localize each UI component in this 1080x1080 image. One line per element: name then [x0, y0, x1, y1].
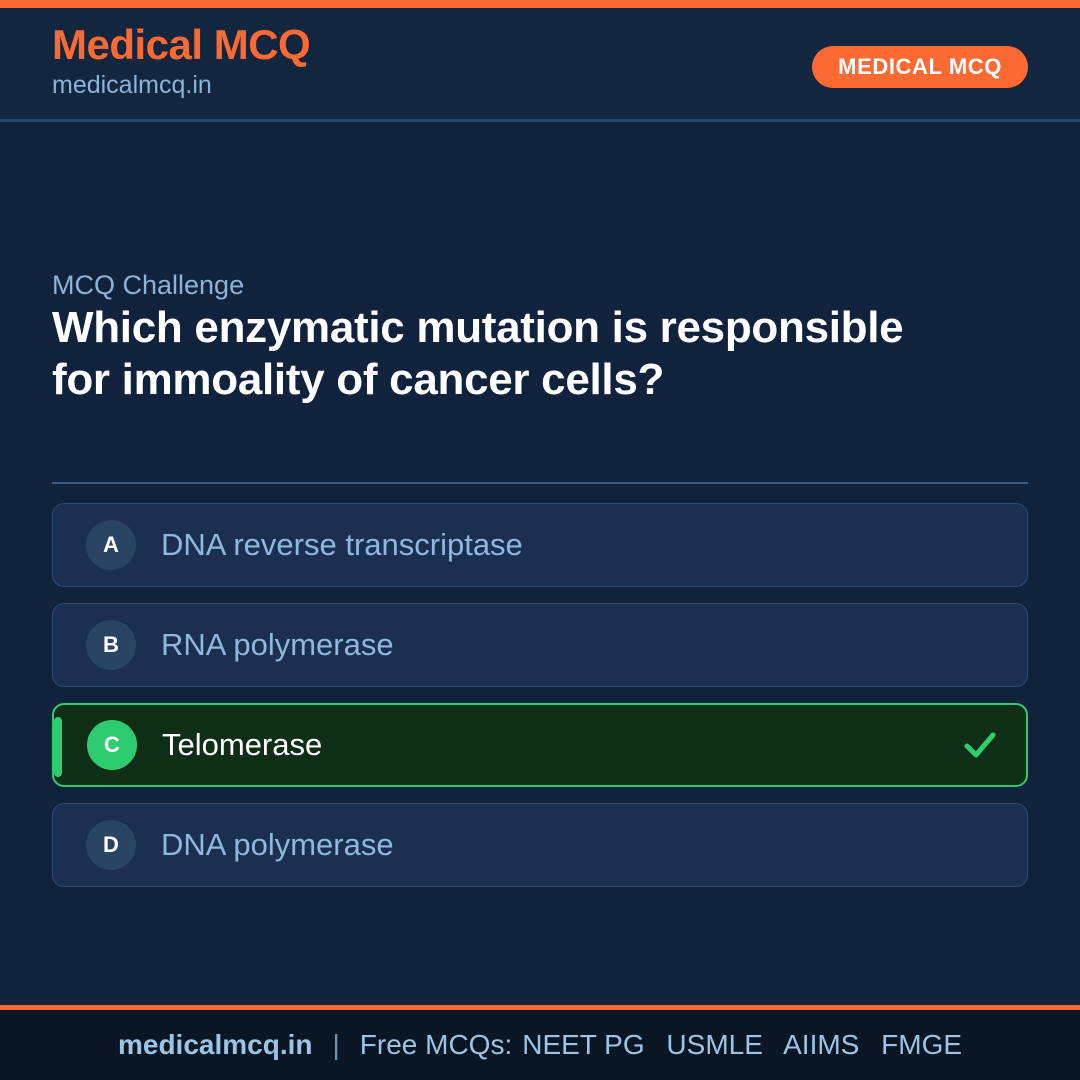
- question-text: Which enzymatic mutation is responsible …: [52, 302, 952, 406]
- main-content: MCQ Challenge Which enzymatic mutation i…: [0, 125, 1080, 1005]
- options-list: A DNA reverse transcriptase B RNA polyme…: [52, 503, 1028, 903]
- footer-tag-fmge[interactable]: FMGE: [881, 1029, 962, 1060]
- option-row-a[interactable]: A DNA reverse transcriptase: [52, 503, 1028, 587]
- page-footer: medicalmcq.in | Free MCQs: NEET PG USMLE…: [0, 1005, 1080, 1080]
- question-divider: [52, 482, 1028, 484]
- option-label: RNA polymerase: [161, 628, 394, 662]
- brand-block: Medical MCQ medicalmcq.in: [52, 21, 310, 101]
- footer-label: Free MCQs:: [360, 1029, 512, 1061]
- footer-tag-aiims[interactable]: AIIMS: [783, 1029, 859, 1060]
- kicker-label: MCQ Challenge: [52, 270, 244, 301]
- footer-content: medicalmcq.in | Free MCQs: NEET PG USMLE…: [118, 1029, 962, 1061]
- brand-subtitle: medicalmcq.in: [52, 70, 310, 101]
- option-letter-badge: D: [86, 820, 136, 870]
- brand-title: Medical MCQ: [52, 21, 310, 68]
- check-icon: [962, 727, 998, 763]
- page-header: Medical MCQ medicalmcq.in MEDICAL MCQ: [0, 8, 1080, 122]
- footer-tag-usmle[interactable]: USMLE: [666, 1029, 762, 1060]
- correct-accent-bar: [54, 717, 62, 777]
- footer-site-link[interactable]: medicalmcq.in: [118, 1029, 313, 1061]
- option-label: DNA reverse transcriptase: [161, 528, 523, 562]
- option-row-d[interactable]: D DNA polymerase: [52, 803, 1028, 887]
- option-label: DNA polymerase: [161, 828, 394, 862]
- option-letter-badge: B: [86, 620, 136, 670]
- option-letter-badge: C: [87, 720, 137, 770]
- header-badge: MEDICAL MCQ: [812, 46, 1028, 88]
- option-label: Telomerase: [162, 728, 322, 762]
- option-row-b[interactable]: B RNA polymerase: [52, 603, 1028, 687]
- footer-tag-neet-pg[interactable]: NEET PG: [522, 1029, 644, 1060]
- option-letter-badge: A: [86, 520, 136, 570]
- footer-exam-tags: NEET PG USMLE AIIMS FMGE: [522, 1029, 962, 1061]
- footer-separator: |: [332, 1029, 339, 1061]
- top-accent-bar: [0, 0, 1080, 8]
- option-row-c[interactable]: C Telomerase: [52, 703, 1028, 787]
